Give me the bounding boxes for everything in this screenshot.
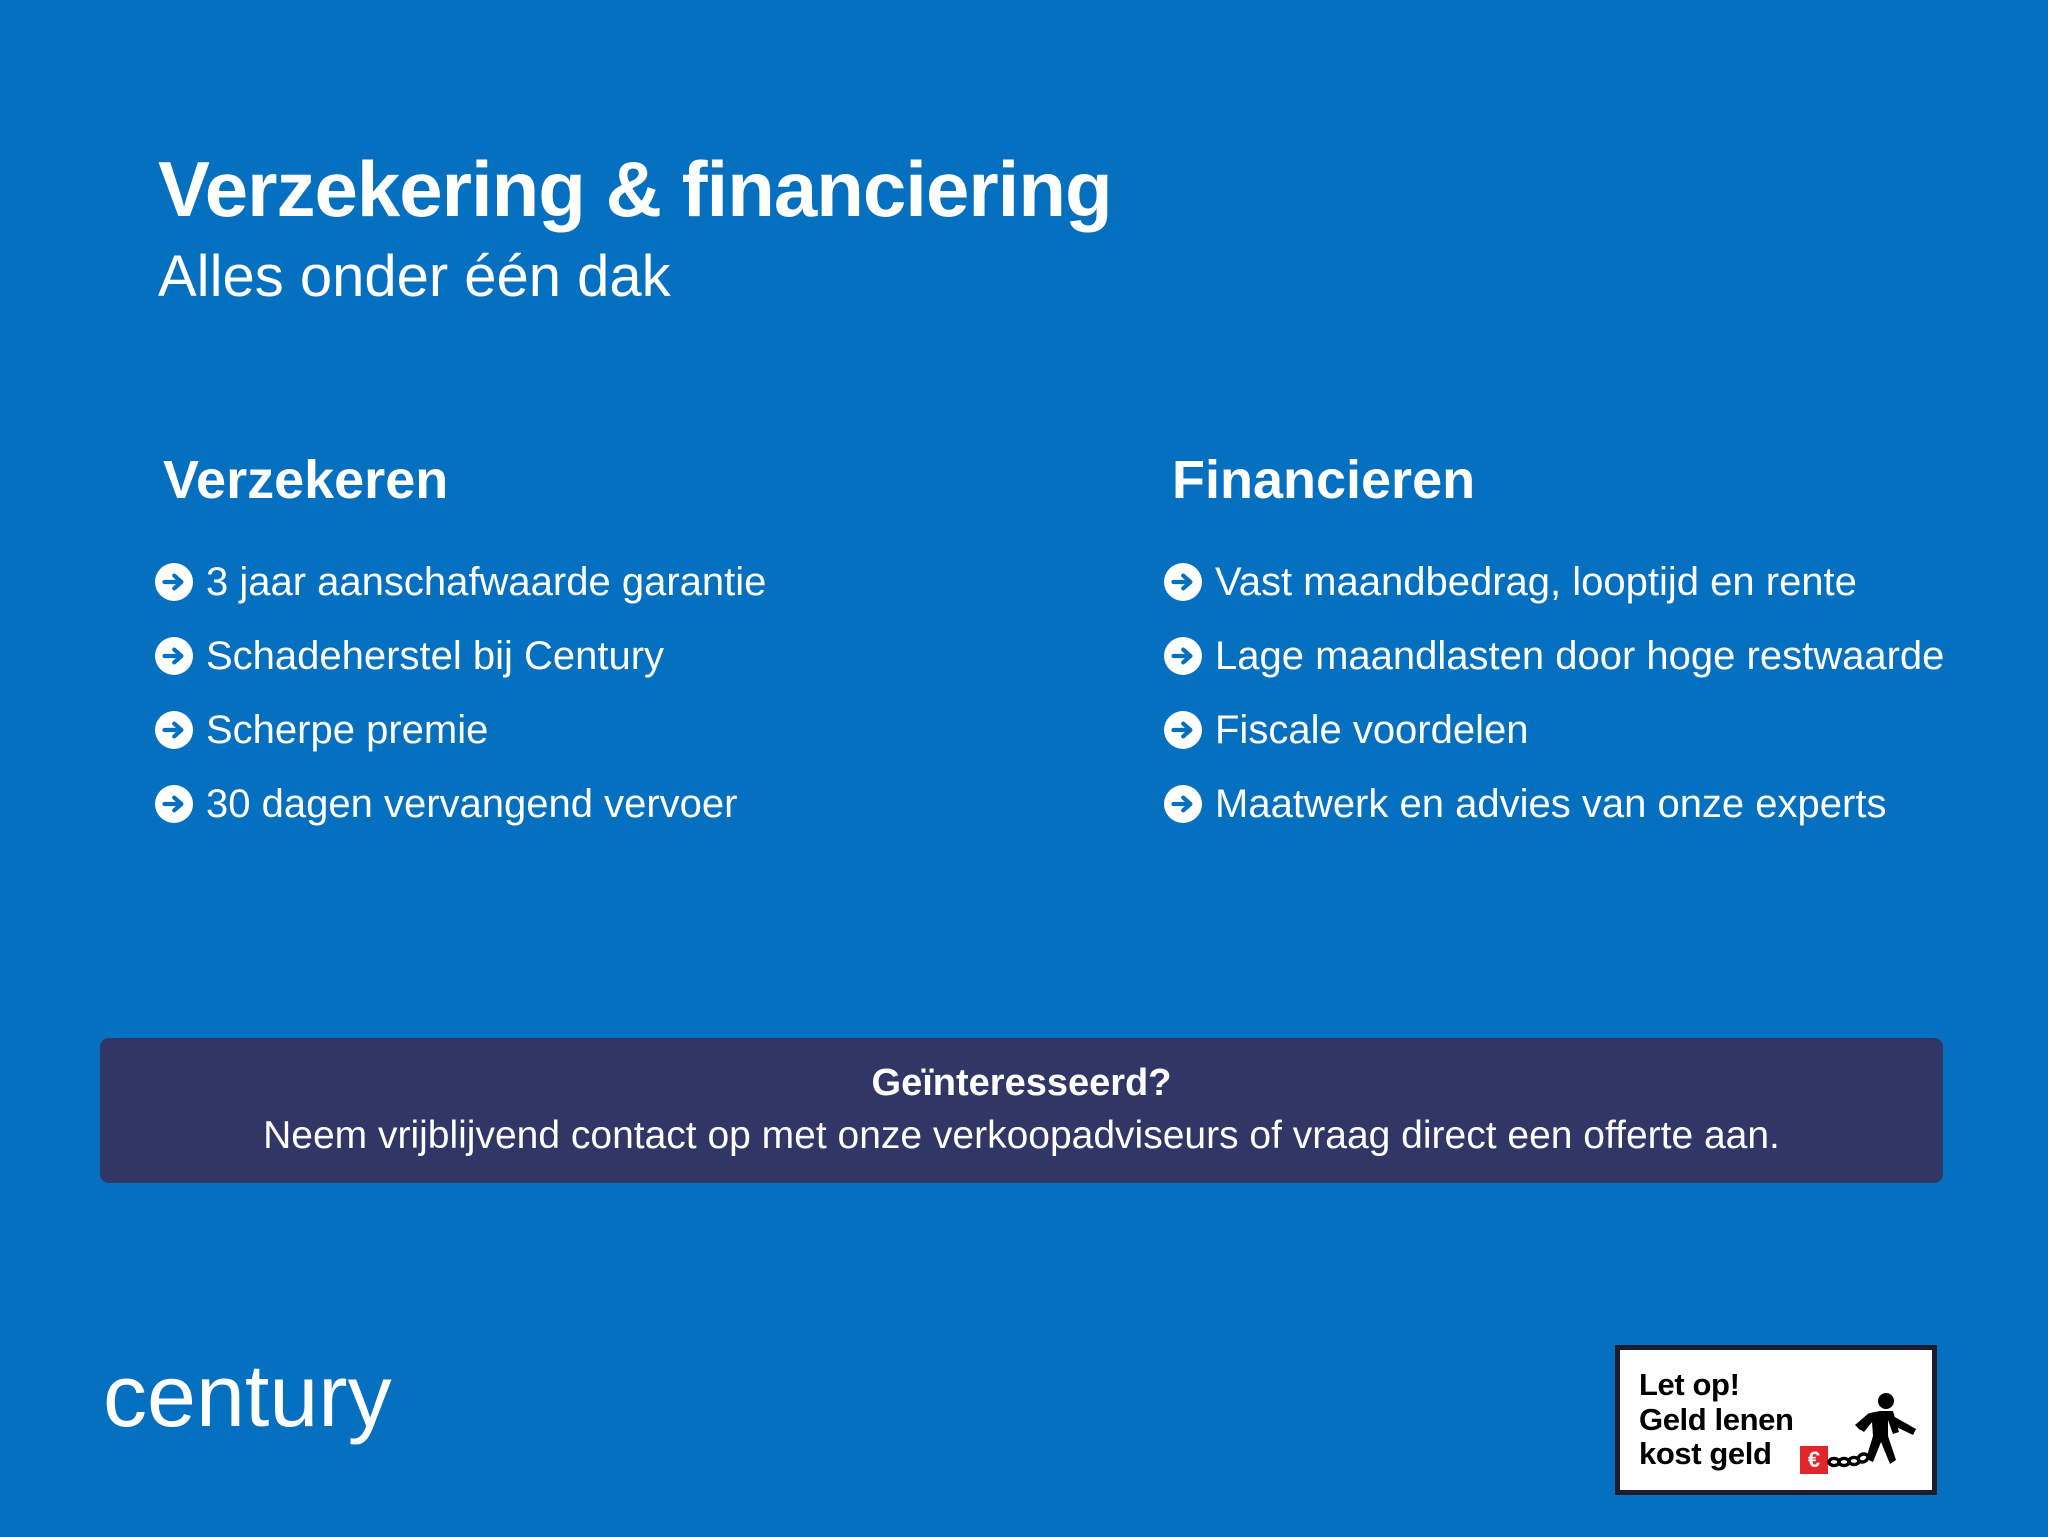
cta-banner[interactable]: Geïnteresseerd? Neem vrijblijvend contac… [100, 1038, 1943, 1183]
list-item: Schadeherstel bij Century [155, 619, 900, 693]
list-item-label: Scherpe premie [206, 708, 488, 752]
arrow-circle-right-icon [155, 785, 193, 823]
list-item: Fiscale voordelen [1164, 693, 2048, 767]
page-subtitle: Alles onder één dak [158, 244, 1858, 311]
list-item: Lage maandlasten door hoge restwaarde [1164, 619, 2048, 693]
column-heading-verzekeren: Verzekeren [163, 452, 900, 509]
bullet-list-financieren: Vast maandbedrag, looptijd en rente Lage… [1164, 545, 2048, 841]
slide-root: Verzekering & financiering Alles onder é… [0, 0, 2048, 1537]
page-title: Verzekering & financiering [158, 150, 1858, 228]
column-heading-financieren: Financieren [1172, 452, 2048, 509]
credit-warning-line-2: Geld lenen [1639, 1403, 1793, 1438]
column-verzekeren: Verzekeren 3 jaar aanschafwaarde garanti… [0, 452, 900, 841]
credit-warning-box: Let op! Geld lenen kost geld € [1615, 1345, 1937, 1495]
credit-warning-line-3: kost geld [1639, 1437, 1793, 1472]
header: Verzekering & financiering Alles onder é… [158, 150, 1858, 311]
list-item-label: Schadeherstel bij Century [206, 634, 664, 678]
arrow-circle-right-icon [1164, 711, 1202, 749]
arrow-circle-right-icon [1164, 563, 1202, 601]
list-item: 30 dagen vervangend vervoer [155, 767, 900, 841]
century-logo: century [103, 1352, 392, 1440]
cta-title: Geïnteresseerd? [872, 1061, 1172, 1107]
list-item: 3 jaar aanschafwaarde garantie [155, 545, 900, 619]
feature-columns: Verzekeren 3 jaar aanschafwaarde garanti… [0, 452, 2048, 841]
arrow-circle-right-icon [1164, 637, 1202, 675]
list-item-label: Vast maandbedrag, looptijd en rente [1215, 560, 1857, 604]
cta-text: Neem vrijblijvend contact op met onze ve… [263, 1113, 1780, 1160]
arrow-circle-right-icon [155, 711, 193, 749]
svg-text:€: € [1808, 1447, 1820, 1472]
euro-ball-and-chain-icon: € [1798, 1390, 1926, 1482]
list-item-label: Fiscale voordelen [1215, 708, 1529, 752]
column-financieren: Financieren Vast maandbedrag, looptijd e… [900, 452, 2048, 841]
arrow-circle-right-icon [155, 563, 193, 601]
list-item-label: Lage maandlasten door hoge restwaarde [1215, 634, 1944, 678]
arrow-circle-right-icon [155, 637, 193, 675]
list-item-label: 30 dagen vervangend vervoer [206, 782, 737, 826]
credit-warning-text: Let op! Geld lenen kost geld [1620, 1368, 1793, 1472]
list-item: Vast maandbedrag, looptijd en rente [1164, 545, 2048, 619]
list-item-label: Maatwerk en advies van onze experts [1215, 782, 1886, 826]
credit-warning-line-1: Let op! [1639, 1368, 1793, 1403]
list-item: Maatwerk en advies van onze experts [1164, 767, 2048, 841]
arrow-circle-right-icon [1164, 785, 1202, 823]
list-item: Scherpe premie [155, 693, 900, 767]
list-item-label: 3 jaar aanschafwaarde garantie [206, 560, 766, 604]
bullet-list-verzekeren: 3 jaar aanschafwaarde garantie Schadeher… [155, 545, 900, 841]
